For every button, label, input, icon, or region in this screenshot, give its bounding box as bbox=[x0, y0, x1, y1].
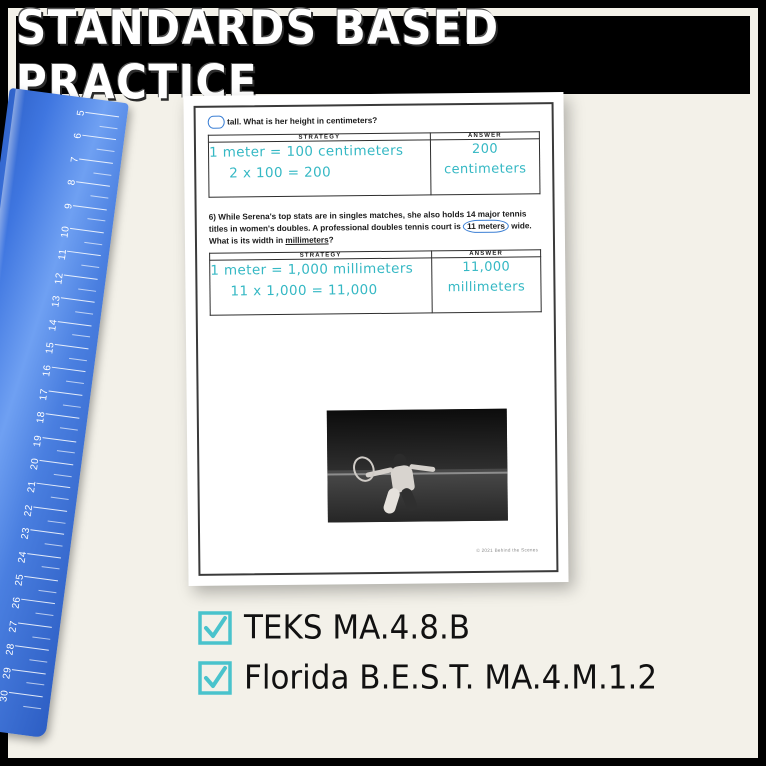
question-5-text: tall. What is her height in centimeters? bbox=[208, 112, 540, 129]
photo-player bbox=[379, 451, 426, 513]
ruler-tick-major bbox=[30, 529, 64, 534]
tennis-player-photo bbox=[327, 409, 508, 523]
ruler-tick-major bbox=[76, 181, 110, 186]
ruler-tick-label: 23 bbox=[20, 527, 32, 540]
ruler-tick-minor bbox=[32, 636, 50, 639]
ruler-tick-minor bbox=[29, 659, 47, 662]
question-6-answer-cell: 11,000 millimeters bbox=[432, 257, 542, 313]
standard-label-florida: Florida B.E.S.T. MA.4.M.1.2 bbox=[244, 659, 657, 697]
ruler-body: 5678910111213141516171819202122232425262… bbox=[0, 88, 129, 738]
ruler-tick-minor bbox=[35, 613, 53, 616]
ruler-tick-minor bbox=[66, 381, 84, 384]
ruler-tick-label: 21 bbox=[26, 480, 38, 493]
ruler-tick-major bbox=[27, 553, 61, 558]
ruler-tick-minor bbox=[54, 474, 72, 477]
list-item: Florida B.E.S.T. MA.4.M.1.2 bbox=[198, 660, 758, 696]
ruler-tick-major bbox=[82, 135, 116, 140]
ruler-tick-major bbox=[55, 344, 89, 349]
question-6-table: Strategy Answer 1 meter = 1,000 millimet… bbox=[209, 250, 542, 316]
ruler-tick-minor bbox=[42, 566, 60, 569]
worksheet-page: tall. What is her height in centimeters?… bbox=[183, 92, 568, 586]
ruler-tick-major bbox=[24, 576, 58, 581]
ruler-tick-label: 20 bbox=[29, 457, 41, 470]
ruler-tick-minor bbox=[100, 126, 118, 129]
ruler-tick-major bbox=[39, 460, 73, 465]
ruler-tick-minor bbox=[78, 288, 96, 291]
ruler-tick-major bbox=[70, 228, 104, 233]
ruler-tick-major bbox=[15, 645, 49, 650]
ruler-tick-major bbox=[46, 413, 80, 418]
ruler-tick-minor bbox=[69, 358, 87, 361]
worksheet-content: tall. What is her height in centimeters?… bbox=[198, 106, 555, 572]
ruler-tick-major bbox=[21, 599, 55, 604]
question-6-circled-value: 11 meters bbox=[463, 220, 509, 234]
ruler-tick-minor bbox=[51, 497, 69, 500]
standards-list: TEKS MA.4.8.B Florida B.E.S.T. MA.4.M.1.… bbox=[198, 610, 758, 710]
player-leg-left bbox=[382, 487, 401, 515]
copyright-credit: © 2021 Behind the Scenes bbox=[476, 547, 538, 553]
checkbox-checked-icon bbox=[198, 611, 232, 645]
ruler-tick-major bbox=[79, 158, 113, 163]
question-6-text: 6) While Serena's top stats are in singl… bbox=[209, 208, 541, 247]
ruler-tick-minor bbox=[97, 149, 115, 152]
ruler-tick-label: 26 bbox=[10, 596, 22, 609]
ruler-tick-label: 7 bbox=[69, 156, 81, 163]
ruler-tick-minor bbox=[72, 334, 90, 337]
ruler-tick-label: 10 bbox=[59, 225, 71, 238]
table-row: 1 meter = 100 centimeters 2 x 100 = 200 … bbox=[208, 139, 540, 197]
ruler-tick-label: 8 bbox=[66, 179, 78, 186]
ruler-tick-label: 18 bbox=[35, 411, 47, 424]
q5-answer-line-1: 200 bbox=[431, 139, 539, 160]
ruler-tick-minor bbox=[60, 427, 78, 430]
ruler-tick-label: 24 bbox=[17, 550, 29, 563]
ruler-tick-minor bbox=[84, 242, 102, 245]
ruler-tick-minor bbox=[63, 404, 81, 407]
ruler-tick-minor bbox=[81, 265, 99, 268]
poster-frame: Standards Based Practice 567891011121314… bbox=[0, 0, 766, 766]
ruler-tick-minor bbox=[90, 195, 108, 198]
q6-answer-line-2: millimeters bbox=[432, 277, 540, 298]
ruler-tick-major bbox=[52, 367, 86, 372]
q5-work-line-1: 1 meter = 100 centimeters bbox=[209, 140, 430, 163]
question-6-text-c: ? bbox=[329, 236, 334, 245]
q6-answer-line-1: 11,000 bbox=[432, 258, 540, 279]
question-5-work-cell: 1 meter = 100 centimeters 2 x 100 = 200 bbox=[208, 140, 431, 197]
ruler-tick-label: 5 bbox=[75, 109, 87, 116]
ruler-tick-major bbox=[18, 622, 52, 627]
ruler-tick-label: 27 bbox=[7, 620, 19, 633]
ruler-tick-minor bbox=[93, 172, 111, 175]
ruler-tick-label: 29 bbox=[1, 666, 13, 679]
ruler-tick-label: 14 bbox=[47, 318, 59, 331]
ruler-tick-minor bbox=[23, 706, 41, 709]
ruler-tick-label: 22 bbox=[23, 504, 35, 517]
ruler-tick-major bbox=[67, 251, 101, 256]
question-6-underlined-unit: millimeters bbox=[285, 236, 328, 245]
q6-work-line-2: 11 x 1,000 = 11,000 bbox=[210, 280, 431, 303]
ruler-tick-label: 9 bbox=[63, 202, 75, 209]
ruler-tick-minor bbox=[57, 450, 75, 453]
player-leg-right bbox=[399, 486, 418, 512]
ruler-tick-major bbox=[36, 483, 70, 488]
checkbox-checked-icon bbox=[198, 661, 232, 695]
ruler-tick-label: 17 bbox=[38, 388, 50, 401]
ruler-tick-label: 19 bbox=[32, 434, 44, 447]
ruler-tick-label: 25 bbox=[13, 573, 25, 586]
ruler-tick-minor bbox=[26, 682, 44, 685]
table-row: 1 meter = 1,000 millimeters 11 x 1,000 =… bbox=[210, 257, 542, 315]
ruler-tick-major bbox=[49, 390, 83, 395]
standard-label-teks: TEKS MA.4.8.B bbox=[244, 609, 470, 647]
question-5-table: Strategy Answer 1 meter = 100 centimeter… bbox=[208, 131, 541, 197]
ruler-tick-minor bbox=[75, 311, 93, 314]
question-5-answer-cell: 200 centimeters bbox=[430, 139, 540, 195]
ruler-tick-label: 16 bbox=[41, 364, 53, 377]
ruler-tick-minor bbox=[48, 520, 66, 523]
ruler: 5678910111213141516171819202122232425262… bbox=[0, 86, 143, 740]
header-banner: Standards Based Practice bbox=[16, 16, 750, 94]
ruler-tick-major bbox=[85, 112, 119, 117]
ruler-tick-label: 6 bbox=[72, 132, 84, 139]
q6-work-line-1: 1 meter = 1,000 millimeters bbox=[210, 259, 431, 282]
q5-work-line-2: 2 x 100 = 200 bbox=[209, 161, 430, 184]
ruler-tick-major bbox=[61, 297, 95, 302]
ruler-tick-major bbox=[58, 321, 92, 326]
question-5-circled bbox=[208, 116, 225, 129]
ruler-tick-minor bbox=[87, 218, 105, 221]
ruler-tick-major bbox=[73, 205, 107, 210]
ruler-tick-label: 28 bbox=[4, 643, 16, 656]
ruler-tick-major bbox=[12, 669, 46, 674]
ruler-tick-major bbox=[9, 692, 43, 697]
q5-answer-line-2: centimeters bbox=[431, 159, 539, 180]
ruler-tick-label: 12 bbox=[53, 272, 65, 285]
question-6-work-cell: 1 meter = 1,000 millimeters 11 x 1,000 =… bbox=[210, 258, 433, 315]
question-6-number: 6) bbox=[209, 213, 216, 222]
ruler-tick-label: 11 bbox=[56, 248, 68, 261]
ruler-tick-minor bbox=[45, 543, 63, 546]
ruler-tick-minor bbox=[39, 590, 57, 593]
list-item: TEKS MA.4.8.B bbox=[198, 610, 758, 646]
ruler-tick-label: 13 bbox=[50, 295, 62, 308]
ruler-tick-major bbox=[33, 506, 67, 511]
ruler-tick-major bbox=[42, 437, 76, 442]
ruler-tick-major bbox=[64, 274, 98, 279]
ruler-tick-label: 30 bbox=[0, 689, 11, 702]
ruler-tick-label: 15 bbox=[44, 341, 56, 354]
